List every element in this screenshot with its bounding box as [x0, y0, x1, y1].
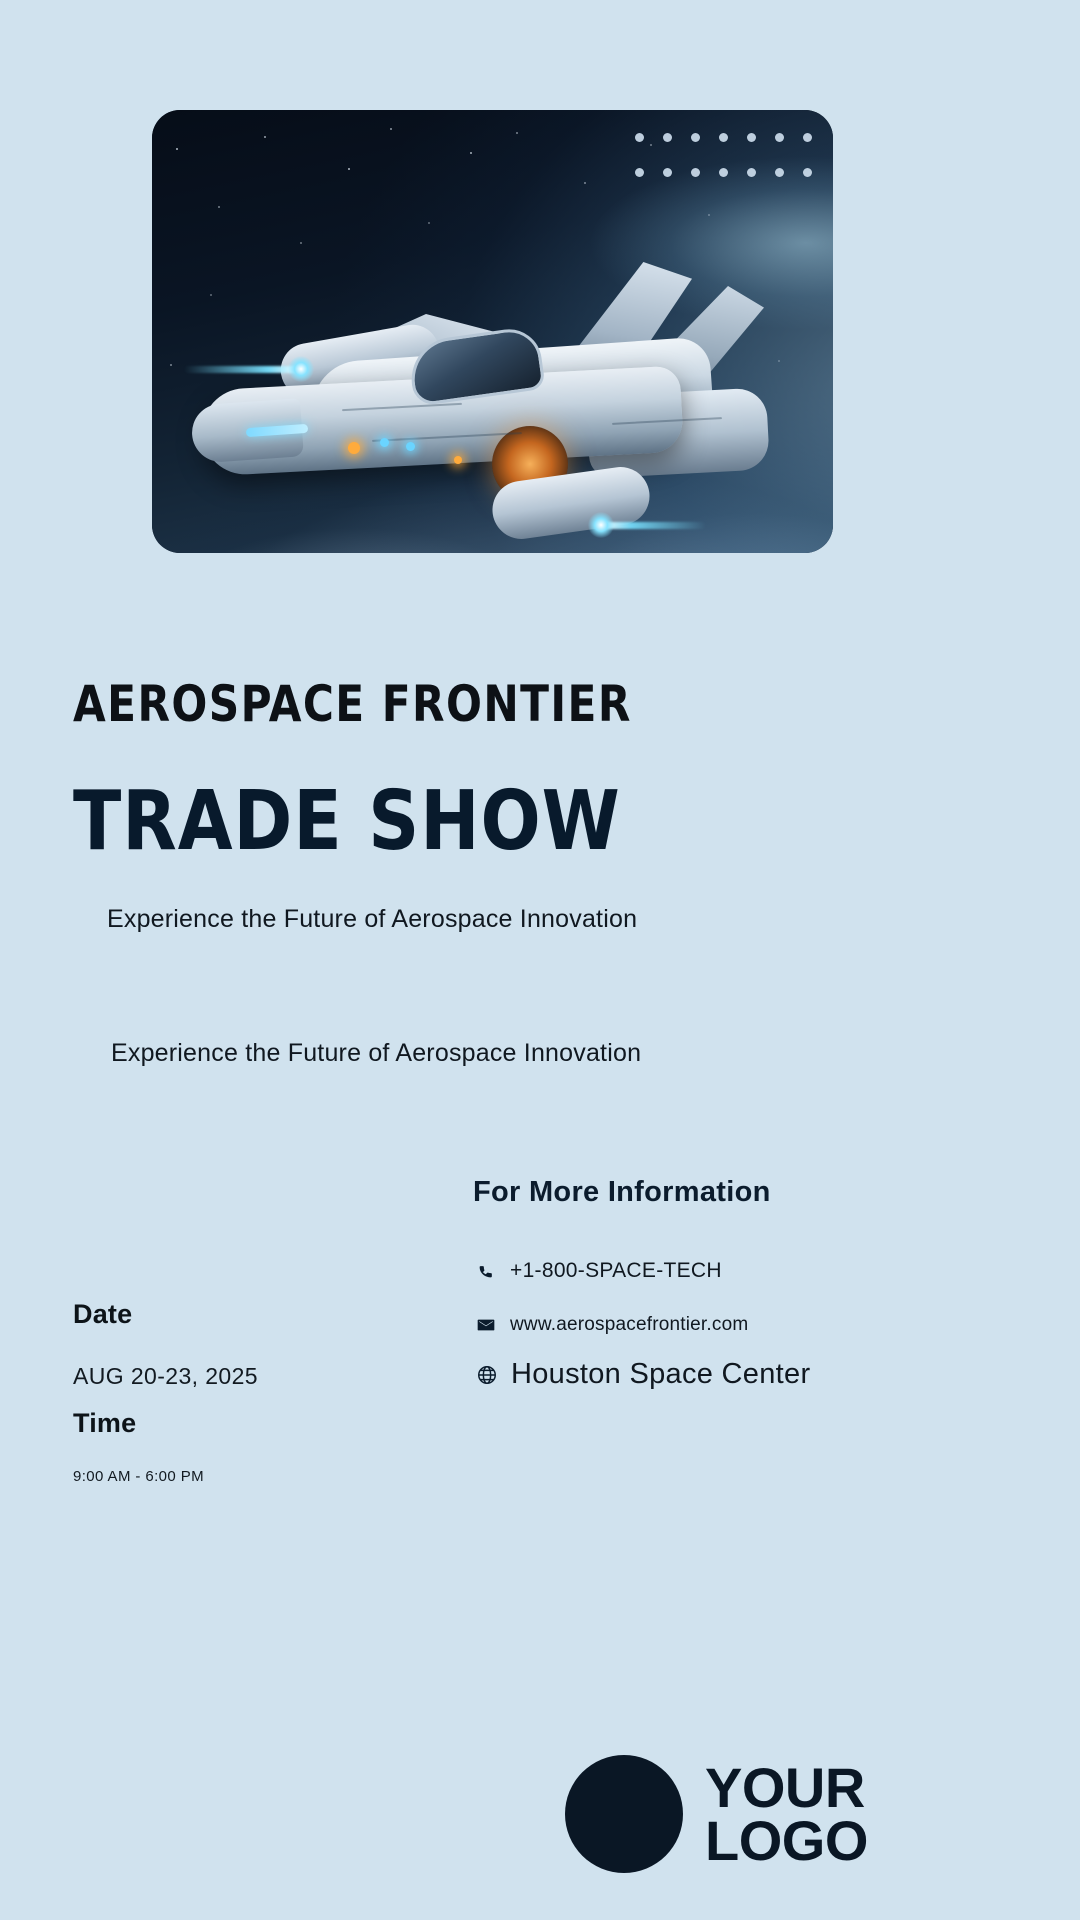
tagline-primary: Experience the Future of Aerospace Innov… [107, 905, 637, 934]
globe-icon [476, 1364, 498, 1386]
phone-icon [476, 1261, 496, 1281]
time-label: Time [73, 1408, 136, 1439]
tagline-secondary: Experience the Future of Aerospace Innov… [111, 1039, 641, 1068]
hero-image [152, 110, 833, 553]
spaceship-illustration [192, 230, 802, 553]
logo-wordmark-line2: LOGO [705, 1814, 868, 1867]
mail-icon [476, 1315, 496, 1335]
page-title: TRADE SHOW [73, 781, 621, 863]
info-section-heading: For More Information [473, 1176, 771, 1209]
contact-row-venue[interactable]: Houston Space Center [476, 1358, 810, 1391]
logo-wordmark: YOUR LOGO [705, 1761, 868, 1867]
logo-circle-mark [565, 1755, 683, 1873]
poster-canvas: AEROSPACE FRONTIER TRADE SHOW Experience… [0, 0, 1080, 1920]
venue-name: Houston Space Center [511, 1358, 810, 1391]
logo-lockup: YOUR LOGO [565, 1728, 1025, 1900]
website-url: www.aerospacefrontier.com [510, 1314, 748, 1336]
dot-grid-overlay [625, 120, 821, 190]
phone-number: +1-800-SPACE-TECH [510, 1259, 722, 1283]
contact-row-phone[interactable]: +1-800-SPACE-TECH [476, 1259, 722, 1283]
event-kicker: AEROSPACE FRONTIER [73, 675, 632, 733]
logo-wordmark-line1: YOUR [705, 1761, 868, 1814]
date-label: Date [73, 1299, 132, 1330]
contact-row-website[interactable]: www.aerospacefrontier.com [476, 1314, 748, 1336]
time-value: 9:00 AM - 6:00 PM [73, 1468, 204, 1485]
date-value: AUG 20-23, 2025 [73, 1363, 258, 1390]
